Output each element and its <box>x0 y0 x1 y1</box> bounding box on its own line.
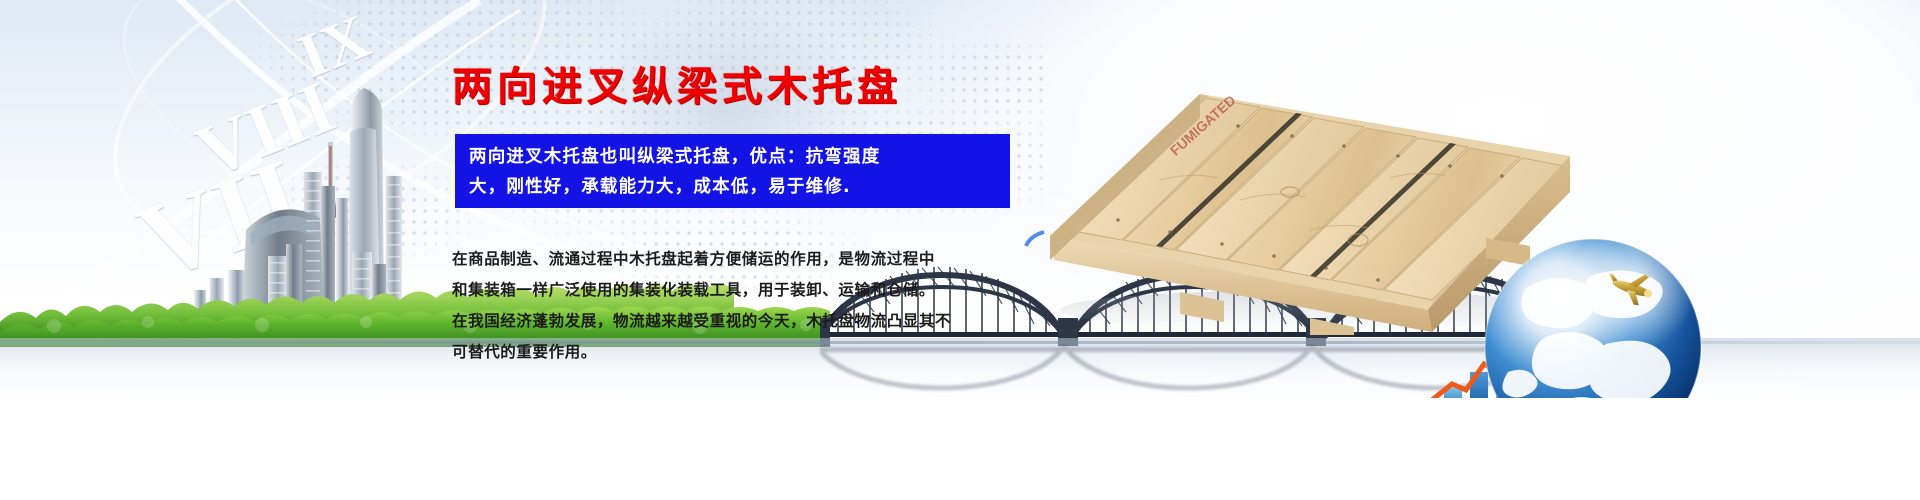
body-line-2: 和集装箱一样广泛使用的集装化装载工具，用于装卸、运输和仓储。 <box>452 275 1052 306</box>
map-haze-overlay <box>520 0 940 260</box>
highlight-callout-box: 两向进叉木托盘也叫纵梁式托盘，优点：抗弯强度 大，刚性好，承载能力大，成本低，易… <box>455 134 1010 208</box>
highlight-line-2: 大，刚性好，承载能力大，成本低，易于维修. <box>469 172 996 202</box>
highlight-line-1: 两向进叉木托盘也叫纵梁式托盘，优点：抗弯强度 <box>469 142 996 172</box>
body-paragraph: 在商品制造、流通过程中木托盘起着方便储运的作用，是物流过程中 和集装箱一样广泛使… <box>452 244 1052 368</box>
page-title: 两向进叉纵梁式木托盘 <box>452 54 902 112</box>
gold-airplane-icon <box>1606 268 1662 308</box>
body-line-4: 可替代的重要作用。 <box>452 337 1052 368</box>
body-line-3: 在我国经济蓬勃发展，物流越来越受重视的今天，木托盘物流凸显其不 <box>452 306 1052 337</box>
body-line-1: 在商品制造、流通过程中木托盘起着方便储运的作用，是物流过程中 <box>452 244 1052 275</box>
product-banner: IX VIII VII <box>0 0 1920 500</box>
bottom-white-fade <box>0 398 1920 500</box>
